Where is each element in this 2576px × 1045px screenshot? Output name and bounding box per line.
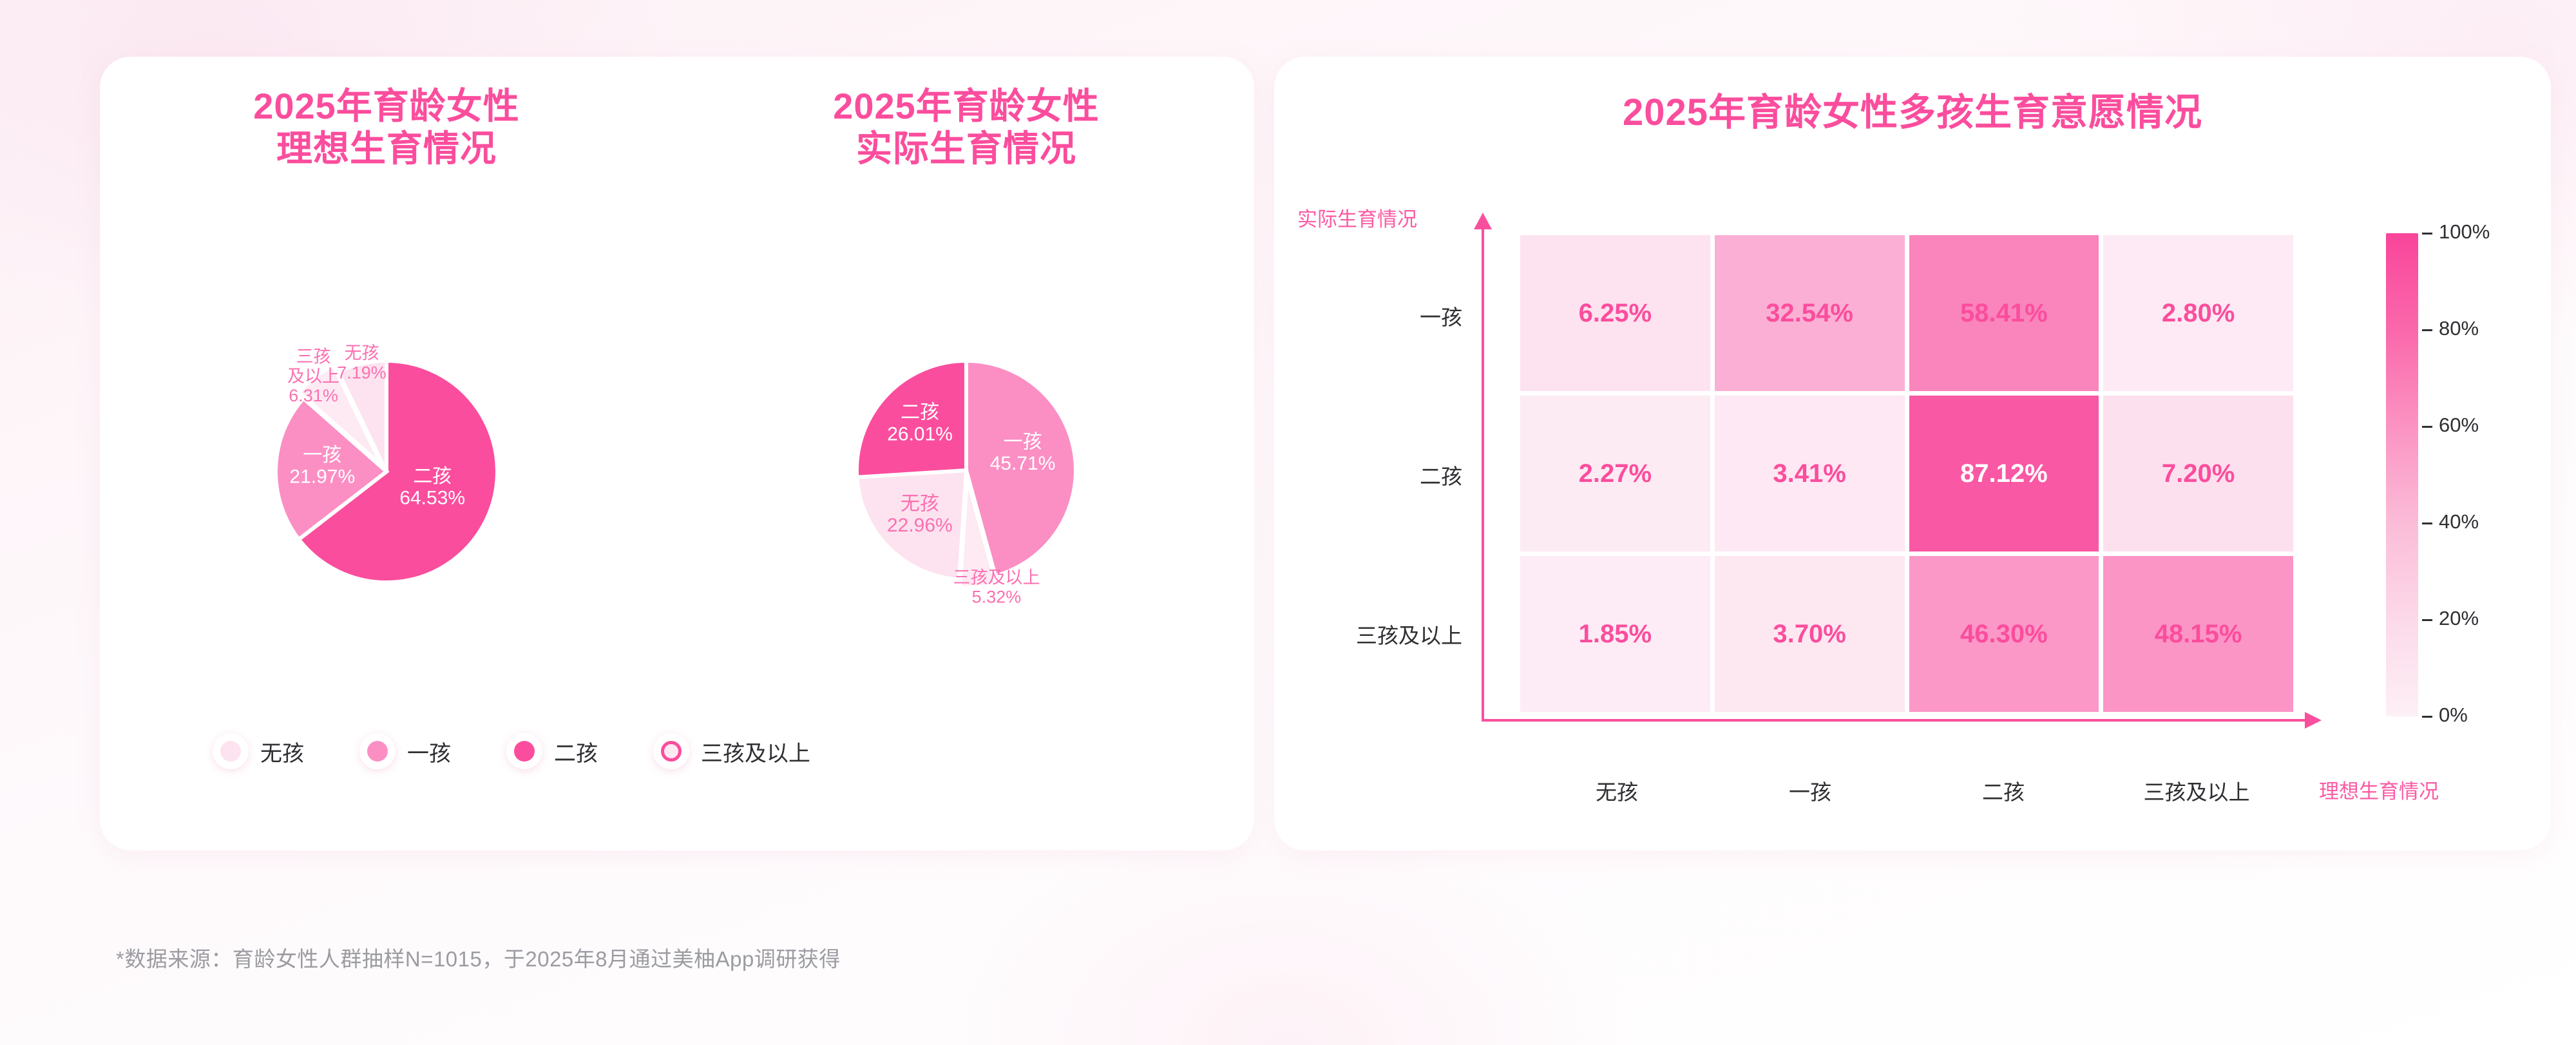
pie2-title: 2025年育龄女性 实际生育情况 <box>741 85 1192 170</box>
heatmap-cell: 6.25% <box>1520 235 1710 391</box>
colorbar-tick-dash <box>2422 329 2432 331</box>
legend-dot-icon <box>367 741 388 762</box>
heatmap-y-tick: 三孩及以上 <box>1256 618 1462 649</box>
legend-item-0[interactable]: 无孩 <box>213 733 304 769</box>
legend-label: 一孩 <box>407 736 451 767</box>
pie-slice-label: 无孩7.19% <box>337 343 386 382</box>
legend-item-2[interactable]: 二孩 <box>506 733 598 769</box>
legend-dot-icon <box>220 741 241 762</box>
heatmap-cell: 1.85% <box>1520 556 1710 712</box>
legend-ring-icon <box>661 741 682 762</box>
heatmap-y-axis-label: 实际生育情况 <box>1297 203 1417 232</box>
colorbar-tick-label: 60% <box>2439 414 2479 437</box>
pie1-title: 2025年育龄女性 理想生育情况 <box>161 85 612 170</box>
pie-chart-actual-fertility: 一孩45.71%三孩及以上5.32%无孩22.96%二孩26.01% <box>728 233 1205 710</box>
heatmap-cell: 32.54% <box>1715 235 1905 391</box>
heatmap-cell: 58.41% <box>1909 235 2099 391</box>
heatmap-y-tick: 一孩 <box>1256 300 1462 331</box>
legend-label: 三孩及以上 <box>701 736 810 767</box>
heatmap-y-axis-line <box>1482 227 1484 722</box>
footnote: *数据来源：育龄女性人群抽样N=1015，于2025年8月通过美柚App调研获得 <box>116 942 841 973</box>
heatmap-colorbar <box>2386 233 2418 716</box>
colorbar-tick-label: 80% <box>2439 317 2479 340</box>
heatmap-x-tick: 无孩 <box>1520 775 1713 806</box>
pie-chart-ideal-fertility: 二孩64.53%一孩21.97%三孩及以上6.31%无孩7.19% <box>148 233 625 710</box>
legend-label: 无孩 <box>260 736 304 767</box>
legend-item-1[interactable]: 一孩 <box>359 733 451 769</box>
colorbar-tick-label: 40% <box>2439 510 2479 533</box>
heatmap-cell: 2.80% <box>2103 235 2293 391</box>
legend-swatch <box>653 733 689 769</box>
heatmap-cell: 3.70% <box>1715 556 1905 712</box>
heatmap-x-tick: 三孩及以上 <box>2100 775 2293 806</box>
heatmap-x-tick: 一孩 <box>1713 775 1907 806</box>
legend-swatch <box>213 733 249 769</box>
heatmap-x-axis-line <box>1482 719 2307 722</box>
legend-label: 二孩 <box>554 736 598 767</box>
heatmap-x-axis-label: 理想生育情况 <box>2319 775 2439 804</box>
heatmap-x-tick: 二孩 <box>1907 775 2100 806</box>
heatmap-cell: 3.41% <box>1715 396 1905 551</box>
heatmap-cell: 46.30% <box>1909 556 2099 712</box>
heatmap-title: 2025年育龄女性多孩生育意愿情况 <box>1274 90 2551 135</box>
colorbar-tick-dash <box>2422 716 2432 718</box>
heatmap-grid: 6.25%32.54%58.41%2.80%2.27%3.41%87.12%7.… <box>1520 235 2293 712</box>
colorbar-tick-dash <box>2422 619 2432 621</box>
legend-dot-icon <box>514 741 535 762</box>
heatmap-cell: 48.15% <box>2103 556 2293 712</box>
pie-legend: 无孩一孩二孩三孩及以上 <box>213 733 1082 769</box>
heatmap-cell: 87.12% <box>1909 396 2099 551</box>
pie-slice-label: 三孩及以上6.31% <box>287 347 339 405</box>
legend-swatch <box>359 733 396 769</box>
colorbar-tick-label: 100% <box>2439 220 2490 244</box>
colorbar-tick-dash <box>2422 426 2432 428</box>
heatmap-y-tick: 二孩 <box>1256 459 1462 490</box>
colorbar-tick-label: 0% <box>2439 704 2468 727</box>
legend-swatch <box>506 733 542 769</box>
colorbar-tick-label: 20% <box>2439 607 2479 630</box>
y-axis-arrow-icon <box>1474 213 1492 229</box>
heatmap-cell: 7.20% <box>2103 396 2293 551</box>
colorbar-tick-dash <box>2422 522 2432 524</box>
legend-item-3[interactable]: 三孩及以上 <box>653 733 810 769</box>
colorbar-tick-dash <box>2422 233 2432 235</box>
x-axis-arrow-icon <box>2305 712 2322 729</box>
heatmap-cell: 2.27% <box>1520 396 1710 551</box>
